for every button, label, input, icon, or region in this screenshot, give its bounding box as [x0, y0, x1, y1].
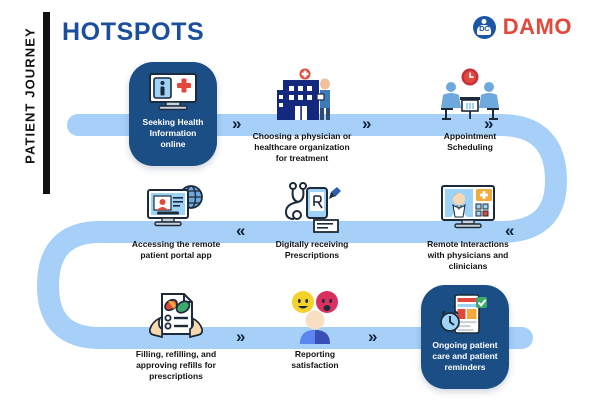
- chevron-forward-2: »: [362, 115, 371, 132]
- step-label: Seeking Health Information online: [143, 117, 204, 150]
- patient-journey-infographic: PATIENT JOURNEY HOTSPOTS DC DAMO: [0, 0, 600, 407]
- appointment-clock-icon: [410, 64, 530, 126]
- step-reporting-satisfaction[interactable]: Reporting satisfaction: [255, 282, 375, 371]
- chevron-backward-1: «: [505, 222, 514, 239]
- brand-name: DAMO: [503, 14, 572, 40]
- step-appointment-scheduling[interactable]: Appointment Scheduling: [410, 64, 530, 153]
- chevron-forward-4: »: [236, 328, 245, 345]
- step-card-ongoing-patient-care[interactable]: Ongoing patient care and patient reminde…: [421, 285, 509, 389]
- step-label: Appointment Scheduling: [410, 131, 530, 153]
- prescription-refill-hands-icon: [116, 282, 236, 344]
- hospital-building-icon: [242, 64, 362, 126]
- patient-portal-monitor-icon: [116, 172, 236, 234]
- step-choosing-physician[interactable]: Choosing a physician or healthcare organ…: [242, 64, 362, 164]
- step-label: Choosing a physician or healthcare organ…: [242, 131, 362, 164]
- step-label: Reporting satisfaction: [255, 349, 375, 371]
- step-prescription-refills[interactable]: Filling, refilling, and approving refill…: [116, 282, 236, 382]
- chevron-forward-1: »: [232, 115, 241, 132]
- step-label: Remote Interactions with physicians and …: [408, 239, 528, 272]
- sidebar-title: PATIENT JOURNEY: [23, 6, 38, 186]
- page-title: HOTSPOTS: [62, 18, 204, 47]
- brand-monogram: DC: [473, 24, 496, 33]
- step-digital-prescriptions[interactable]: Digitally receiving Prescriptions: [252, 172, 372, 261]
- monitor-health-info-icon: [146, 71, 200, 113]
- step-card-seeking-health-information[interactable]: Seeking Health Information online: [129, 62, 217, 166]
- step-label: Filling, refilling, and approving refill…: [116, 349, 236, 382]
- step-label: Ongoing patient care and patient reminde…: [432, 340, 497, 373]
- chevron-backward-2: «: [236, 222, 245, 239]
- digital-prescription-icon: [252, 172, 372, 234]
- brand-logo: DC DAMO: [473, 14, 572, 40]
- step-label: Accessing the remote patient portal app: [116, 239, 236, 261]
- chevron-forward-5: »: [368, 328, 377, 345]
- chevron-forward-3: »: [484, 115, 493, 132]
- sidebar-divider-bar: [43, 12, 50, 194]
- step-label: Digitally receiving Prescriptions: [252, 239, 372, 261]
- damo-circle-icon: DC: [473, 16, 496, 39]
- satisfaction-faces-icon: [255, 282, 375, 344]
- step-patient-portal-app[interactable]: Accessing the remote patient portal app: [116, 172, 236, 261]
- reminder-phone-clock-icon: [439, 294, 491, 336]
